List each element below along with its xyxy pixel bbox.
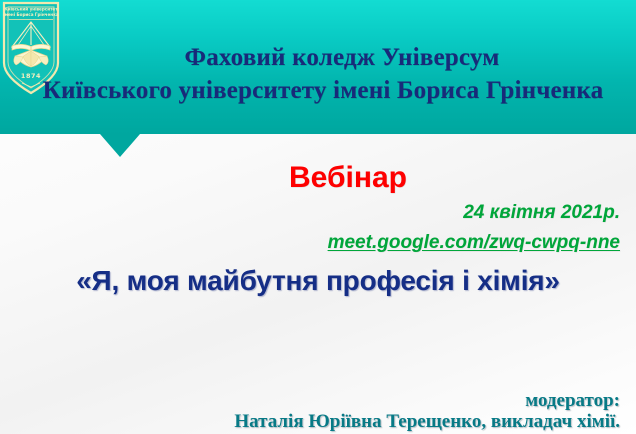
moderator-label: модератор: (525, 390, 620, 412)
webinar-title: «Я, моя майбутня професія і хімія» (0, 265, 636, 297)
svg-text:імені Бориса Грінченка: імені Бориса Грінченка (3, 12, 58, 17)
university-name-line-2: Київського університету імені Бориса Грі… (0, 77, 636, 105)
svg-text:Київський університет: Київський університет (4, 7, 58, 12)
presentation-slide: Київський університет імені Бориса Грінч… (0, 0, 636, 434)
college-name-line-1: Фаховий коледж Універсум (0, 44, 636, 72)
google-meet-link[interactable]: meet.google.com/zwq-cwpq-nne (328, 232, 620, 254)
banner-notch-triangle (100, 134, 140, 157)
event-date: 24 квітня 2021р. (463, 202, 620, 224)
moderator-name: Наталія Юріївна Терещенко, викладач хімі… (234, 411, 620, 433)
event-type-heading: Вебінар (0, 161, 636, 195)
